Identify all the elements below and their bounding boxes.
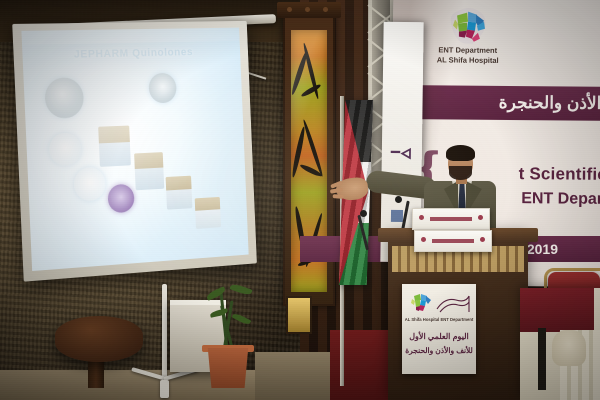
podium-sign-department: AL Shifa Hospital ENT Department [402,317,476,322]
microphone-head-2 [360,210,367,217]
speaker-hair [446,145,475,161]
conference-photo-scene: JEPHARM Quinolones [0,0,600,400]
cabinet-top-edge [170,300,226,305]
projection-screen: JEPHARM Quinolones [12,21,257,282]
folded-napkin [552,330,586,366]
podium-sign-arabic-line2: للأنف والأذن والحنجرة [402,346,476,355]
slide-circular-image-2 [148,73,177,104]
speaker-beard [449,166,472,180]
slide-circular-image-1 [44,77,84,119]
certificate-plaque-bottom [414,230,492,252]
podium-sign-arabic-line1: اليوم العلمي الأول [402,332,476,341]
slide-step-block-3 [166,176,193,210]
screen-frame: JEPHARM Quinolones [12,21,257,282]
terracotta-planter [205,348,251,388]
slide-step-block-1 [98,125,130,166]
screen-tripod-mast [162,284,167,384]
screen-tripod-leg-center [160,380,169,398]
slide-step-block-2 [134,152,164,191]
slide-purple-emblem [107,184,134,214]
pennant-square-icon [391,210,403,222]
microphone-head [395,196,402,203]
podium-sign-swoosh-icon [436,294,470,314]
table-leg [538,328,546,390]
table-runner [520,288,594,332]
pennant-logo-icon: −◃ [390,140,411,165]
slide-circular-image-4 [73,166,106,201]
round-side-table [55,316,143,362]
speaker-podium: AL Shifa Hospital ENT Department اليوم ا… [388,236,528,400]
podium-sign: AL Shifa Hospital ENT Department اليوم ا… [402,284,476,374]
small-wall-frame [286,296,312,334]
podium-sign-logo-icon [408,292,434,314]
slide-step-block-4 [194,197,220,228]
column-capital [277,2,341,18]
slide-circular-image-3 [49,132,82,167]
stained-glass-column [283,14,335,306]
screen-surface: JEPHARM Quinolones [21,28,248,271]
certificate-plaque-top [412,208,490,230]
